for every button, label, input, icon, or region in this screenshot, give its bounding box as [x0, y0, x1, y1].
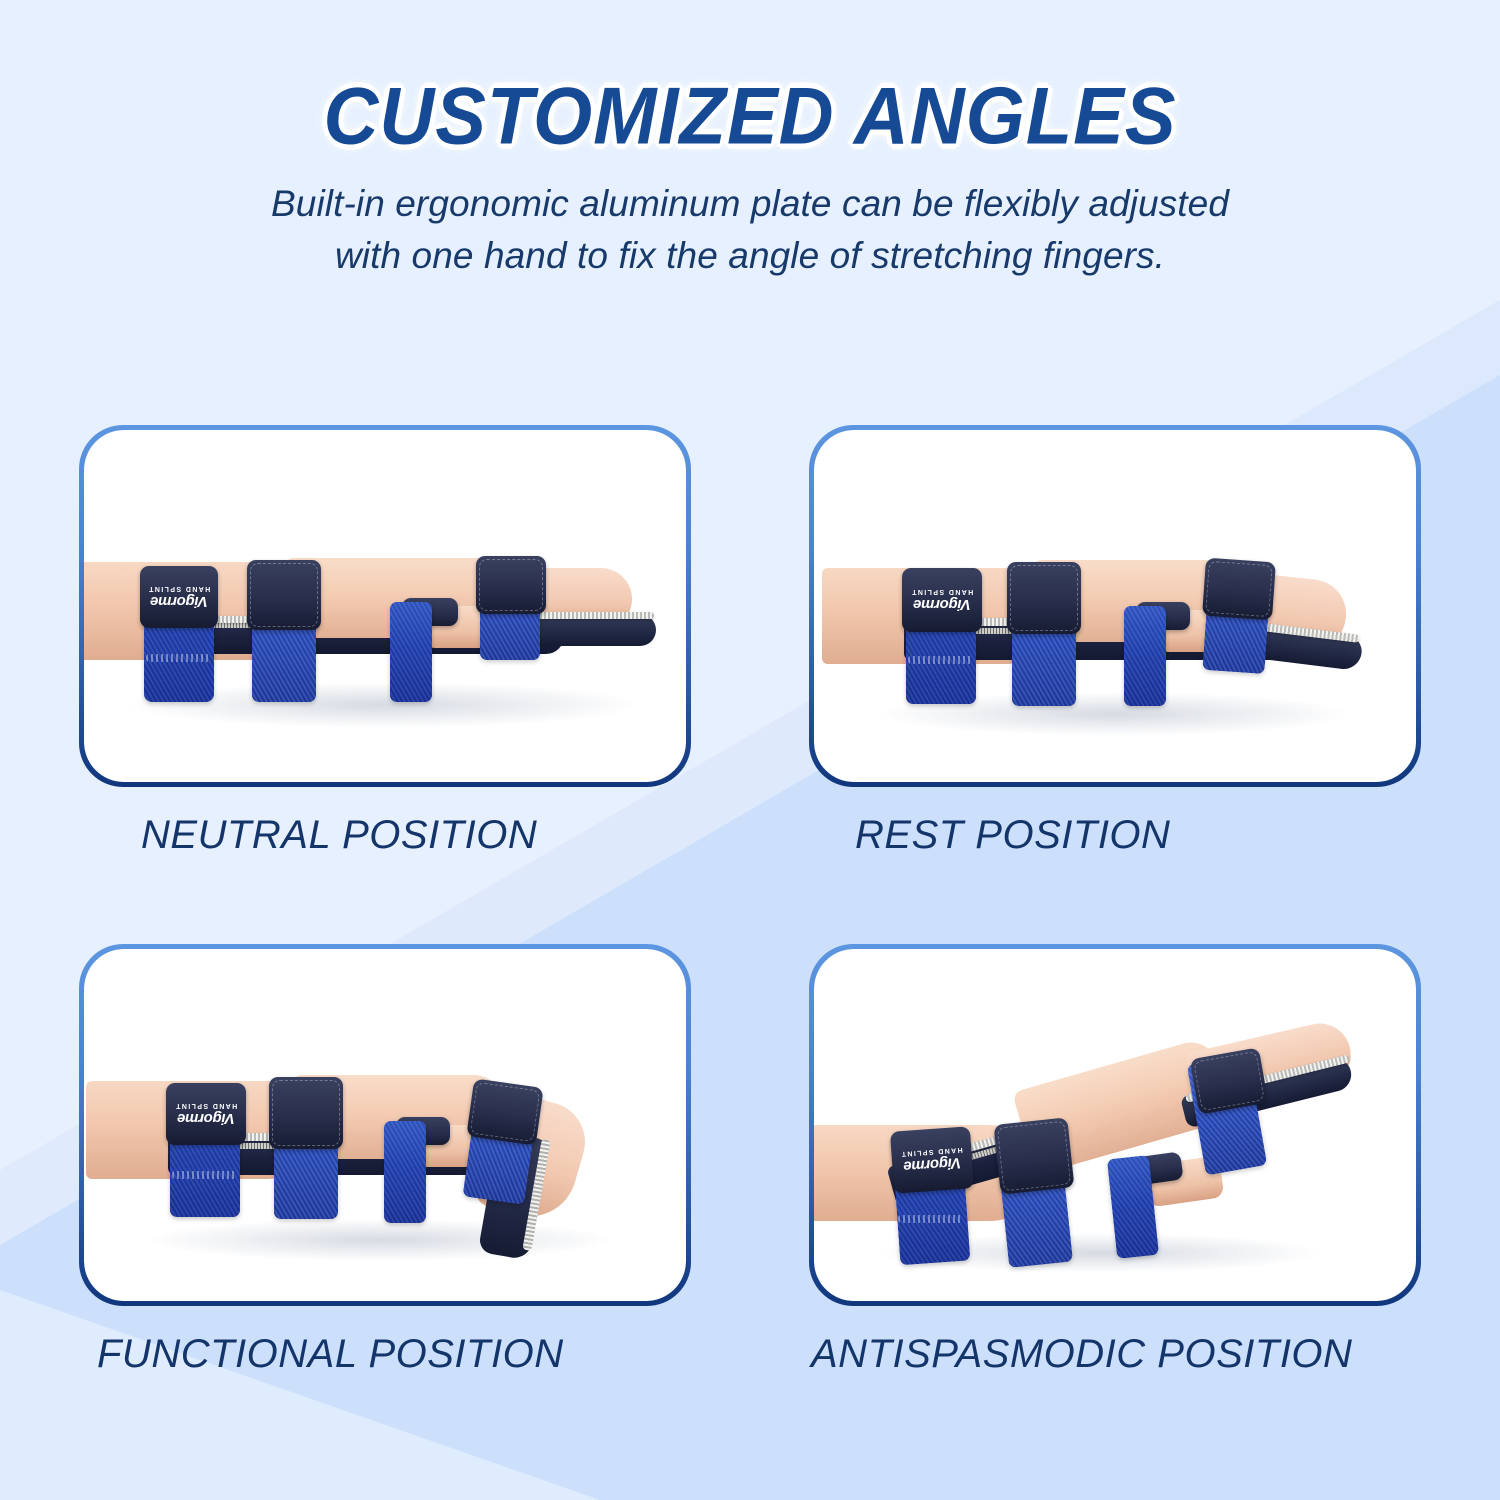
strap-thumb[interactable]: [384, 1121, 426, 1223]
caption-rest: REST POSITION: [809, 813, 1421, 858]
brand-name: Vigorme: [148, 592, 210, 610]
strap-hand-tab: [476, 556, 546, 614]
photo-panel-antispasmodic[interactable]: Vigorme HAND SPLINT: [809, 944, 1421, 1306]
strap-wrist-tab: [269, 1077, 343, 1149]
strap-hand-tab: [1190, 1047, 1269, 1114]
product-name: HAND SPLINT: [148, 584, 210, 592]
photo-panel-functional[interactable]: Vigorme HAND SPLINT: [79, 944, 691, 1306]
brand-label: Vigorme HAND SPLINT: [902, 568, 982, 632]
splint-scene-neutral: Vigorme HAND SPLINT: [84, 430, 686, 782]
brand-label: Vigorme HAND SPLINT: [166, 1083, 246, 1145]
panel-cell-neutral: Vigorme HAND SPLINT: [79, 425, 691, 858]
grid-row-bottom: Vigorme HAND SPLINT: [0, 944, 1500, 1377]
caption-functional: FUNCTIONAL POSITION: [79, 1332, 691, 1377]
panel-cell-functional: Vigorme HAND SPLINT: [79, 944, 691, 1377]
page-subtitle: Built-in ergonomic aluminum plate can be…: [130, 178, 1370, 283]
subtitle-line-2: with one hand to fix the angle of stretc…: [130, 230, 1370, 283]
product-photo-neutral: Vigorme HAND SPLINT: [84, 430, 686, 782]
strap-hand-tab: [1202, 558, 1276, 621]
page-title: CUSTOMIZED ANGLES: [0, 76, 1500, 158]
position-grid: Vigorme HAND SPLINT: [0, 425, 1500, 1377]
photo-panel-rest[interactable]: Vigorme HAND SPLINT: [809, 425, 1421, 787]
strap-thumb[interactable]: [390, 602, 432, 702]
strap-thumb[interactable]: [1124, 606, 1166, 706]
panel-cell-antispasmodic: Vigorme HAND SPLINT: [809, 944, 1421, 1377]
splint-scene-rest: Vigorme HAND SPLINT: [814, 430, 1416, 782]
product-photo-functional: Vigorme HAND SPLINT: [84, 949, 686, 1301]
strap-wrist-tab: [247, 560, 321, 630]
product-name: HAND SPLINT: [911, 587, 973, 595]
header: CUSTOMIZED ANGLES Built-in ergonomic alu…: [0, 0, 1500, 283]
subtitle-line-1: Built-in ergonomic aluminum plate can be…: [130, 178, 1370, 231]
grid-row-top: Vigorme HAND SPLINT: [0, 425, 1500, 858]
product-photo-rest: Vigorme HAND SPLINT: [814, 430, 1416, 782]
infographic-page: CUSTOMIZED ANGLES Built-in ergonomic alu…: [0, 0, 1500, 1500]
strap-wrist-tab: [994, 1117, 1075, 1194]
caption-antispasmodic: ANTISPASMODIC POSITION: [809, 1332, 1421, 1377]
brand-label: Vigorme HAND SPLINT: [890, 1126, 974, 1193]
brand-name: Vigorme: [175, 1109, 237, 1127]
product-photo-antispasmodic: Vigorme HAND SPLINT: [814, 949, 1416, 1301]
panel-cell-rest: Vigorme HAND SPLINT: [809, 425, 1421, 858]
photo-panel-neutral[interactable]: Vigorme HAND SPLINT: [79, 425, 691, 787]
brand-label: Vigorme HAND SPLINT: [140, 566, 218, 628]
product-name: HAND SPLINT: [175, 1101, 237, 1109]
strap-hand-tab: [466, 1078, 543, 1145]
splint-scene-antispasmodic: Vigorme HAND SPLINT: [814, 949, 1416, 1301]
strap-wrist-tab: [1007, 562, 1081, 634]
splint-scene-functional: Vigorme HAND SPLINT: [84, 949, 686, 1301]
brand-name: Vigorme: [911, 595, 973, 613]
caption-neutral: NEUTRAL POSITION: [79, 813, 691, 858]
